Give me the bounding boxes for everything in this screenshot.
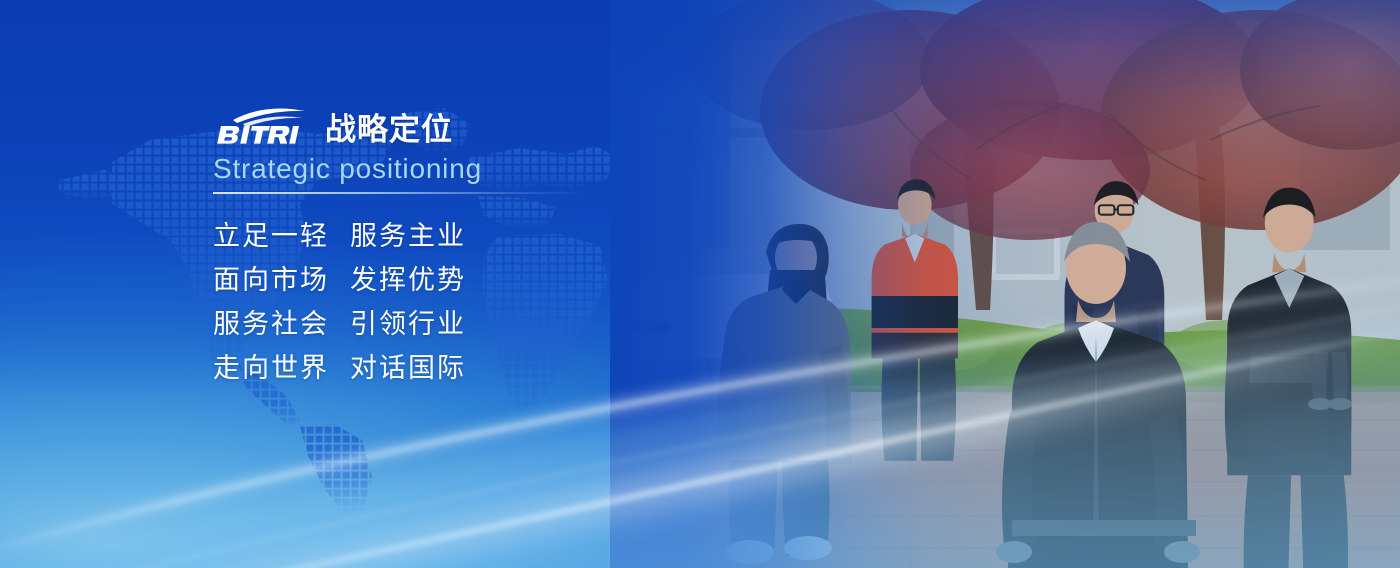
slogan-right: 对话国际 xyxy=(349,346,466,390)
title-divider xyxy=(213,192,585,194)
slogan-row: 走向世界 对话国际 xyxy=(213,346,733,390)
slogan-right: 服务主业 xyxy=(349,214,466,258)
banner-text-block: 战略定位 Strategic positioning 立足一轻 服务主业 面向市… xyxy=(213,105,733,390)
slogan-right: 发挥优势 xyxy=(349,258,466,302)
slogan-left: 走向世界 xyxy=(213,346,349,390)
slogan-left: 服务社会 xyxy=(213,302,349,346)
slogan-left: 面向市场 xyxy=(213,258,349,302)
brand-row: 战略定位 xyxy=(213,105,733,147)
slogan-row: 立足一轻 服务主业 xyxy=(213,214,733,258)
swoosh-arc-icon xyxy=(233,108,305,127)
bitri-logo[interactable] xyxy=(213,107,311,147)
slogan-list: 立足一轻 服务主业 面向市场 发挥优势 服务社会 引领行业 走向世界 对话国际 xyxy=(213,214,733,390)
slogan-right: 引领行业 xyxy=(349,302,466,346)
strategic-positioning-banner: 战略定位 Strategic positioning 立足一轻 服务主业 面向市… xyxy=(0,0,1400,568)
slogan-row: 面向市场 发挥优势 xyxy=(213,258,733,302)
slogan-left: 立足一轻 xyxy=(213,214,349,258)
slogan-row: 服务社会 引领行业 xyxy=(213,302,733,346)
brand-title-cn: 战略定位 xyxy=(325,113,453,147)
brand-subtitle-en: Strategic positioning xyxy=(213,152,733,186)
